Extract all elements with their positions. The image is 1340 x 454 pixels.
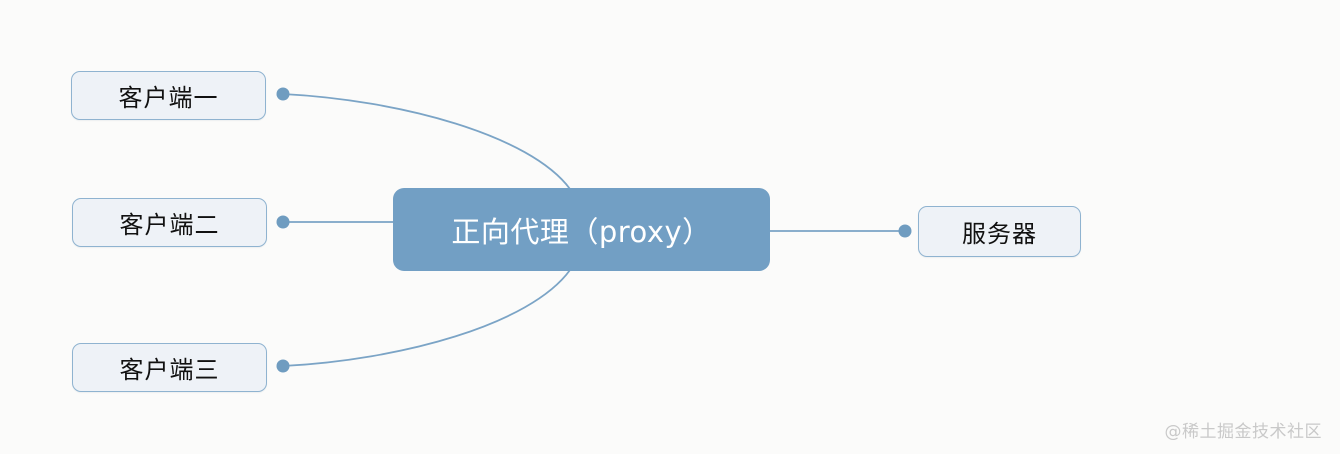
node-client-three-label: 客户端三 [120, 350, 220, 385]
connector-dot-client-two [277, 216, 290, 229]
node-proxy-label: 正向代理（proxy） [451, 209, 711, 251]
node-client-two-label: 客户端二 [120, 205, 220, 240]
node-client-one-label: 客户端一 [119, 78, 219, 113]
node-client-three[interactable]: 客户端三 [72, 343, 267, 392]
diagram-canvas: 客户端一 客户端二 客户端三 正向代理（proxy） 服务器 @稀土掘金技术社区 [0, 0, 1340, 454]
edge-client-one-to-proxy [283, 94, 570, 189]
connector-dot-client-one [277, 88, 290, 101]
connector-dot-server [899, 225, 912, 238]
connector-dot-client-three [277, 360, 290, 373]
watermark: @稀土掘金技术社区 [1165, 417, 1323, 442]
node-server[interactable]: 服务器 [918, 206, 1081, 257]
node-proxy[interactable]: 正向代理（proxy） [393, 188, 770, 271]
node-server-label: 服务器 [962, 214, 1037, 249]
node-client-one[interactable]: 客户端一 [71, 71, 266, 120]
node-client-two[interactable]: 客户端二 [72, 198, 267, 247]
edge-client-three-to-proxy [283, 270, 570, 366]
